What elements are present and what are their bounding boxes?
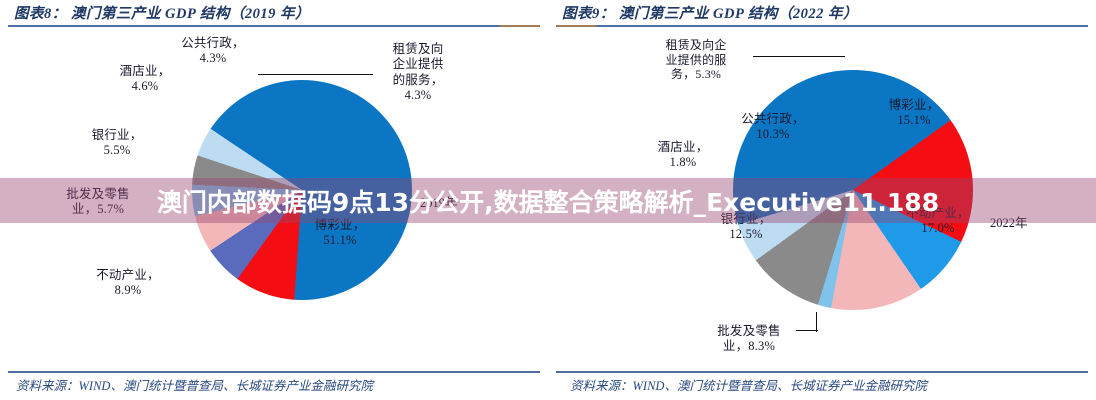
source-note-2019: 资料来源：WIND、澳门统计暨普查局、长城证券产业金融研究院 <box>16 375 373 394</box>
pie-label-leasing-left: 租赁及向 企业提供 的服务， 4.3% <box>378 42 458 103</box>
leader-line-wholesale-right <box>796 330 818 331</box>
pie-label-public-admin-right: 公共行政， 10.3% <box>728 112 818 143</box>
leader-line-leasing-right <box>753 56 845 57</box>
source-divider-right <box>556 371 1088 373</box>
pie-label-wholesale-right: 批发及零售 业，8.3% <box>706 324 792 355</box>
title-divider-accent-right <box>556 25 596 27</box>
leader-line-wholesale-vertical-right <box>816 312 817 332</box>
pie-label-public-admin-left: 公共行政， 4.3% <box>168 36 258 67</box>
title-divider-right <box>556 25 1088 27</box>
source-note-2022: 资料来源：WIND、澳门统计暨普查局、长城证券产业金融研究院 <box>570 375 927 394</box>
leader-line-leasing-left <box>258 74 373 75</box>
title-divider-accent-left <box>500 25 540 27</box>
pie-label-realestate-left: 不动产业， 8.9% <box>88 268 168 299</box>
chart-title-2022: 图表9： 澳门第三产业 GDP 结构（2022 年） <box>562 2 1086 23</box>
source-divider-left <box>8 371 540 373</box>
chart-title-2019: 图表8： 澳门第三产业 GDP 结构（2019 年） <box>14 2 538 23</box>
pie-label-hotel-right: 酒店业， 1.8% <box>648 140 718 171</box>
overlay-watermark-text: 澳门内部数据码9点13分公开,数据整合策略解析_Executive11.188 <box>0 178 1096 223</box>
pie-label-gaming-right: 博彩业， 15.1% <box>876 98 952 129</box>
pie-label-leasing-right: 租赁及向企 业提供的服 务，5.3% <box>646 38 746 82</box>
pie-label-banking-left: 银行业， 5.5% <box>82 128 152 159</box>
title-divider-left <box>8 25 540 27</box>
pie-label-hotel-left: 酒店业， 4.6% <box>110 64 180 95</box>
figure-page: 图表8： 澳门第三产业 GDP 结构（2019 年） 租赁及向 企业提供 的服务… <box>0 0 1096 400</box>
